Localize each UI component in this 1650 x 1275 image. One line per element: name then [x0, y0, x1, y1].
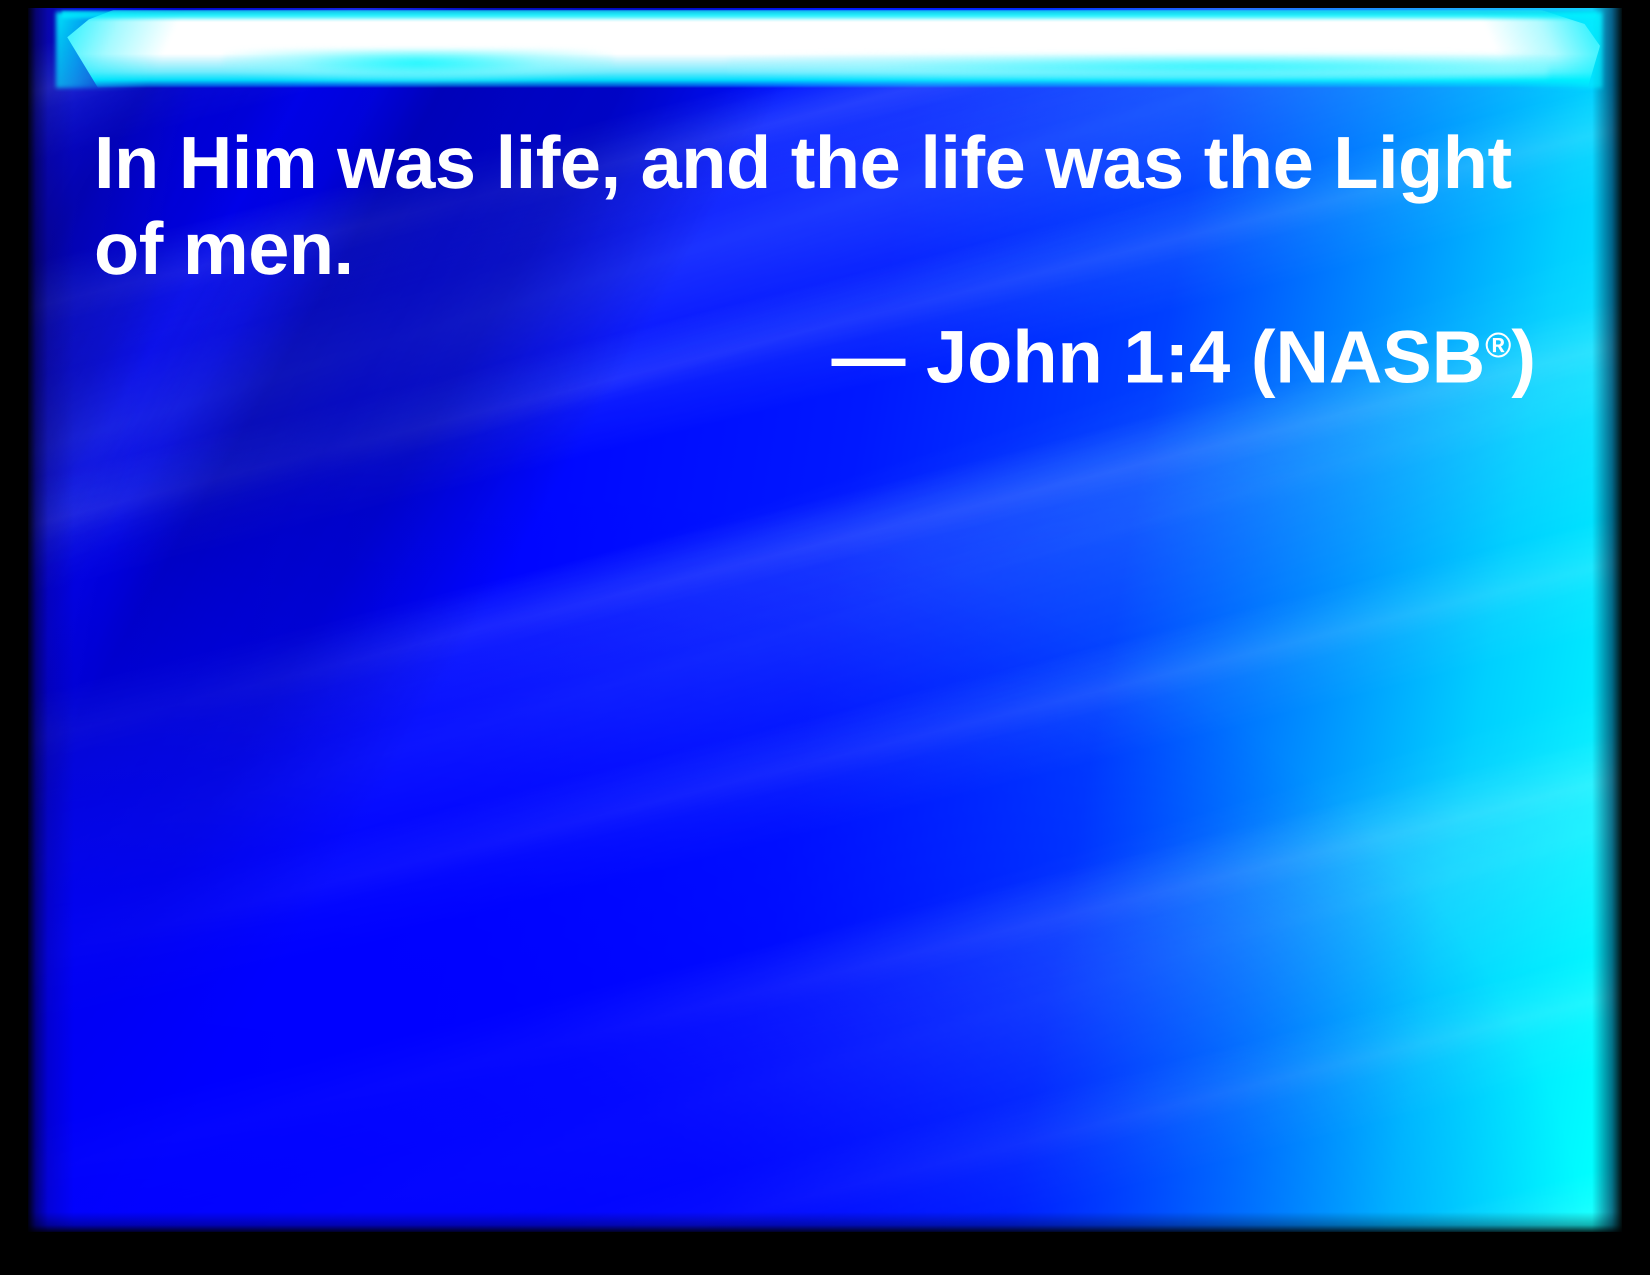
verse-text-block: In Him was life, and the life was the Li… — [94, 120, 1554, 401]
slide-frame: In Him was life, and the life was the Li… — [0, 0, 1650, 1275]
top-light-bar-glow — [58, 10, 1600, 88]
attribution-em-dash: — — [831, 316, 905, 399]
verse-attribution: — John 1:4 (NASB®) — [94, 302, 1554, 401]
top-light-bar — [28, 10, 1622, 88]
registered-trademark-icon: ® — [1485, 325, 1511, 365]
verse-line-2: of men. — [94, 206, 1554, 292]
top-light-bar-cyan-sheen — [62, 11, 1596, 20]
top-light-bar-cyan-pool-right — [728, 54, 1548, 80]
attribution-reference: John 1:4 — [926, 316, 1230, 399]
slide-canvas: In Him was life, and the life was the Li… — [28, 8, 1622, 1232]
verse-line-1: In Him was life, and the life was the Li… — [94, 120, 1554, 206]
top-light-bar-left-wedge — [56, 12, 286, 88]
top-light-bar-cyan-pool-left — [223, 50, 613, 82]
attribution-version-open-paren: (NASB — [1251, 316, 1485, 399]
attribution-version-close-paren: ) — [1511, 316, 1536, 399]
top-light-bar-right-wedge — [1412, 12, 1602, 88]
